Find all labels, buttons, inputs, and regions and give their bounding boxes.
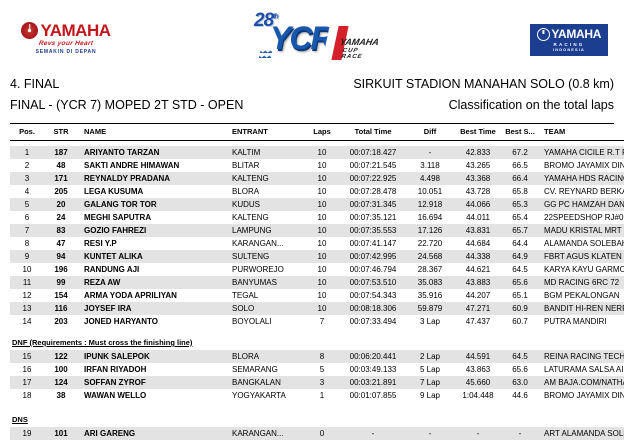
cell-total-time: 00:07:42.995 [340,250,406,263]
cell-total-time: 00:07:54.343 [340,289,406,302]
cell-name: ARMA YODA APRILIYAN [78,289,232,302]
cell-best-speed: 66.5 [502,159,538,172]
cell-team: BANDIT HI-REN NERRO SPEED [538,302,624,315]
col-header-best-speed: Best S... [502,124,538,141]
table-row[interactable]: 17124SOFFAN ZYROFBANGKALAN300:03:21.8917… [10,376,624,389]
cell-diff: 22.720 [406,237,454,250]
cell-team: MD RACING 6RC 72 [538,276,624,289]
cell-str: 116 [44,302,78,315]
cell-best-speed: 65.7 [502,224,538,237]
yamaha-tuning-fork-icon [537,28,550,41]
table-row[interactable]: 12154ARMA YODA APRILIYANTEGAL1000:07:54.… [10,289,624,302]
cell-best-time: 43.265 [454,159,502,172]
cell-pos: 12 [10,289,44,302]
cell-best-time: 44.066 [454,198,502,211]
cell-team: YAMAHA HDS RACING TEAM / 22 SPEEDSHOP RJ… [538,172,624,185]
cell-str: 100 [44,363,78,376]
cell-best-speed: 64.5 [502,263,538,276]
cell-best-time: 43.883 [454,276,502,289]
cell-pos: 17 [10,376,44,389]
table-row[interactable]: 10196RANDUNG AJIPURWOREJO1000:07:46.7942… [10,263,624,276]
cell-str: 20 [44,198,78,211]
cell-entrant: BOYOLALI [232,315,304,328]
results-table-body: 1187ARIYANTO TARZANKALTIM1000:07:18.427-… [10,141,624,440]
cell-diff: 17.126 [406,224,454,237]
cell-team: BGM PEKALONGAN [538,289,624,302]
cell-str: 122 [44,350,78,363]
cell-pos: 2 [10,159,44,172]
cell-name: SAKTI ANDRE HIMAWAN [78,159,232,172]
cell-diff: 3 Lap [406,315,454,328]
cell-name: RESI Y.P [78,237,232,250]
cell-diff: 9 Lap [406,389,454,402]
cell-total-time: 00:07:21.545 [340,159,406,172]
cell-name: ARIYANTO TARZAN [78,146,232,159]
cell-team: ALAMANDA SOLEBAH RT [538,237,624,250]
cell-laps: 10 [304,211,340,224]
cell-team: BROMO JAYAMIX DINAR CAHYA FDR NHK RCB1 K… [538,159,624,172]
cell-diff: 10.051 [406,185,454,198]
cell-name: ARI GARENG [78,427,232,440]
cell-team: 22SPEEDSHOP RJ#09 R.T INDONESIA [538,211,624,224]
cell-best-time: 44.338 [454,250,502,263]
cell-team: BROMO JAYAMIX DINAR CAHYA FDR NHK RCB1 K… [538,389,624,402]
section-label-row: DNF (Requirements : Must cross the finis… [10,335,624,350]
cell-team: YAMAHA CICILE R.T RRS POWERED RACETECH [538,146,624,159]
table-row[interactable]: 1199REZA AWBANYUMAS1000:07:53.51035.0834… [10,276,624,289]
cell-entrant: PURWOREJO [232,263,304,276]
cell-name: JONED HARYANTO [78,315,232,328]
cell-entrant: BLORA [232,185,304,198]
cell-best-time: 1:04.448 [454,389,502,402]
cell-best-time: 44.591 [454,350,502,363]
table-row[interactable]: 13116JOYSEF IRASOLO1000:08:18.30659.8794… [10,302,624,315]
cell-diff: 2 Lap [406,350,454,363]
cell-name: REZA AW [78,276,232,289]
cell-entrant: BLORA [232,350,304,363]
cell-best-speed: 67.2 [502,146,538,159]
cell-best-time: 47.437 [454,315,502,328]
cell-best-speed: 64.9 [502,250,538,263]
table-row[interactable]: 15122IPUNK SALEPOKBLORA800:06:20.4412 La… [10,350,624,363]
cell-diff: 16.694 [406,211,454,224]
cell-pos: 19 [10,427,44,440]
table-row[interactable]: 1838WAWAN WELLOYOGYAKARTA100:01:07.8559 … [10,389,624,402]
cell-name: IRFAN RIYADOH [78,363,232,376]
cell-name: GOZIO FAHREZI [78,224,232,237]
cell-best-time: 44.207 [454,289,502,302]
cell-best-time: 43.728 [454,185,502,198]
cell-team: GG PC HAMZAH DANIOEM ITG KRD 100 GROUP [538,198,624,211]
cell-total-time: 00:07:35.121 [340,211,406,224]
cell-laps: 10 [304,276,340,289]
cell-pos: 5 [10,198,44,211]
table-row[interactable]: 847RESI Y.PKARANGAN...1000:07:41.14722.7… [10,237,624,250]
table-row[interactable]: 994KUNTET ALIKASULTENG1000:07:42.99524.5… [10,250,624,263]
cell-laps: 7 [304,315,340,328]
cell-pos: 7 [10,224,44,237]
dnf-section-label: DNF (Requirements : Must cross the finis… [10,335,624,350]
yamaha-right-racing-label: RACING [554,42,585,47]
cell-best-time: - [454,427,502,440]
logo-header-strip: YAMAHA Revs your Heart SEMAKIN DI DEPAN … [0,0,624,75]
cell-str: 38 [44,389,78,402]
cell-total-time: 00:07:22.925 [340,172,406,185]
cell-best-time: 44.011 [454,211,502,224]
cell-best-time: 44.621 [454,263,502,276]
cell-pos: 3 [10,172,44,185]
cell-str: 83 [44,224,78,237]
col-header-entrant: ENTRANT [232,124,304,141]
title-row-primary: 4. FINAL SIRKUIT STADION MANAHAN SOLO (0… [10,75,614,93]
results-table-head: Pos. STR NAME ENTRANT Laps Total Time Di… [10,124,624,141]
cell-team: CV. REYNARD BERKAH RAYA BOBOBOY MAHENDRA… [538,185,624,198]
cell-best-speed: 65.3 [502,198,538,211]
col-header-diff: Diff [406,124,454,141]
col-header-best-time: Best Time [454,124,502,141]
circuit-name: SIRKUIT STADION MANAHAN SOLO (0.8 km) [353,75,614,93]
yamaha-left-wordmark: YAMAHA [40,22,110,39]
ycr-event-logo: 28th YCR YAMAHA CUP RACE [252,8,380,68]
cell-laps: 3 [304,376,340,389]
cell-str: 48 [44,159,78,172]
cell-pos: 15 [10,350,44,363]
cell-entrant: BANYUMAS [232,276,304,289]
cell-best-speed: 65.1 [502,289,538,302]
table-row[interactable]: 520GALANG TOR TORKUDUS1000:07:31.34512.9… [10,198,624,211]
cell-str: 101 [44,427,78,440]
cell-diff: 3.118 [406,159,454,172]
cell-name: JOYSEF IRA [78,302,232,315]
table-spacer-row [10,328,624,335]
cell-str: 205 [44,185,78,198]
cell-diff: 24.568 [406,250,454,263]
cell-str: 196 [44,263,78,276]
cell-diff: - [406,146,454,159]
cell-team: LATURAMA SALSA AIR MINUM [538,363,624,376]
cell-diff: 28.367 [406,263,454,276]
cell-best-speed: 65.4 [502,211,538,224]
cell-name: LEGA KUSUMA [78,185,232,198]
cell-total-time: 00:07:46.794 [340,263,406,276]
cell-team: REINA RACING TECH BJ BERKAH CEPU [538,350,624,363]
cell-best-speed: 64.5 [502,350,538,363]
cell-entrant: KUDUS [232,198,304,211]
cell-laps: 10 [304,185,340,198]
cell-best-time: 43.831 [454,224,502,237]
yamaha-left-tagline: SEMAKIN DI DEPAN [16,49,116,55]
cell-total-time: 00:07:28.478 [340,185,406,198]
cell-pos: 14 [10,315,44,328]
cell-best-speed: 65.6 [502,276,538,289]
table-row[interactable]: 16100IRFAN RIYADOHSEMARANG500:03:49.1335… [10,363,624,376]
cell-best-speed: 65.8 [502,185,538,198]
cell-pos: 4 [10,185,44,198]
cell-total-time: 00:07:53.510 [340,276,406,289]
cell-name: REYNALDY PRADANA [78,172,232,185]
cell-laps: 10 [304,172,340,185]
classification-note: Classification on the total laps [449,96,614,114]
table-spacer-row [10,402,624,412]
cell-pos: 18 [10,389,44,402]
results-table: Pos. STR NAME ENTRANT Laps Total Time Di… [10,124,624,440]
cell-diff: 35.083 [406,276,454,289]
cell-entrant: KALTENG [232,211,304,224]
table-spacer-cell [10,402,624,412]
cell-best-time: 45.660 [454,376,502,389]
cell-best-time: 47.271 [454,302,502,315]
cell-pos: 6 [10,211,44,224]
cell-laps: 1 [304,389,340,402]
ycr-subtitle: YAMAHA [339,38,380,47]
title-row-secondary: FINAL - (YCR 7) MOPED 2T STD - OPEN Clas… [10,96,614,114]
cell-str: 171 [44,172,78,185]
table-spacer-cell [10,328,624,335]
cell-entrant: SOLO [232,302,304,315]
cell-best-time: 43.863 [454,363,502,376]
cell-total-time: 00:07:41.147 [340,237,406,250]
cell-str: 47 [44,237,78,250]
table-row[interactable]: 3171REYNALDY PRADANAKALTENG1000:07:22.92… [10,172,624,185]
cell-best-speed: 60.9 [502,302,538,315]
cell-entrant: YOGYAKARTA [232,389,304,402]
cell-best-speed: 44.6 [502,389,538,402]
cell-entrant: KALTIM [232,146,304,159]
table-row[interactable]: 19101ARI GARENGKARANGAN...0----ART ALAMA… [10,427,624,440]
cell-name: RANDUNG AJI [78,263,232,276]
ycr-wordmark: YCR [270,22,332,54]
cell-laps: 0 [304,427,340,440]
cell-name: MEGHI SAPUTRA [78,211,232,224]
table-row[interactable]: 1187ARIYANTO TARZANKALTIM1000:07:18.427-… [10,146,624,159]
cell-total-time: 00:07:18.427 [340,146,406,159]
cell-diff: 12.918 [406,198,454,211]
table-row[interactable]: 4205LEGA KUSUMABLORA1000:07:28.47810.051… [10,185,624,198]
cell-diff: - [406,427,454,440]
cell-str: 94 [44,250,78,263]
yamaha-racing-right-logo: YAMAHA RACING INDONESIA [530,24,608,56]
cell-total-time: 00:07:33.494 [340,315,406,328]
cell-best-time: 42.833 [454,146,502,159]
cell-pos: 9 [10,250,44,263]
cell-diff: 4.498 [406,172,454,185]
cell-total-time: 00:06:20.441 [340,350,406,363]
cell-pos: 13 [10,302,44,315]
cell-laps: 10 [304,302,340,315]
cell-team: FBRT AGUS KLATEN [538,250,624,263]
cell-team: KARYA KAYU GARMOS [538,263,624,276]
cell-diff: 5 Lap [406,363,454,376]
cell-laps: 10 [304,289,340,302]
cell-total-time: 00:01:07.855 [340,389,406,402]
cell-entrant: SULTENG [232,250,304,263]
cell-entrant: BLITAR [232,159,304,172]
cell-diff: 59.879 [406,302,454,315]
cell-name: IPUNK SALEPOK [78,350,232,363]
col-header-str: STR [44,124,78,141]
cell-str: 203 [44,315,78,328]
table-row[interactable]: 14203JONED HARYANTOBOYOLALI700:07:33.494… [10,315,624,328]
cell-best-speed: 60.7 [502,315,538,328]
cell-best-time: 43.368 [454,172,502,185]
cell-team: MADU KRISTAL MRT YMR [538,224,624,237]
cell-entrant: LAMPUNG [232,224,304,237]
table-row[interactable]: 248SAKTI ANDRE HIMAWANBLITAR1000:07:21.5… [10,159,624,172]
cell-pos: 10 [10,263,44,276]
cell-pos: 8 [10,237,44,250]
cell-laps: 10 [304,237,340,250]
cell-team: ART ALAMANDA SOLEBAH RT [538,427,624,440]
ycr-subtitle-2: CUP RACE [341,48,382,60]
cell-team: AM BAJA.COM/NATHANIA 2YROF47 DMC FDR HO2… [538,376,624,389]
yamaha-right-country-label: INDONESIA [553,48,585,52]
cell-name: KUNTET ALIKA [78,250,232,263]
cell-best-speed: 63.0 [502,376,538,389]
cell-entrant: TEGAL [232,289,304,302]
cell-entrant: KALTENG [232,172,304,185]
cell-total-time: 00:03:21.891 [340,376,406,389]
page-title-block: 4. FINAL SIRKUIT STADION MANAHAN SOLO (0… [0,75,624,114]
col-header-team: TEAM [538,124,624,141]
cell-diff: 7 Lap [406,376,454,389]
cell-name: SOFFAN ZYROF [78,376,232,389]
cell-str: 124 [44,376,78,389]
cell-best-speed: - [502,427,538,440]
cell-team: PUTRA MANDIRI [538,315,624,328]
cell-name: WAWAN WELLO [78,389,232,402]
col-header-total-time: Total Time [340,124,406,141]
yamaha-tuning-fork-icon [21,22,38,39]
cell-laps: 10 [304,250,340,263]
cell-pos: 1 [10,146,44,159]
yamaha-left-logo: YAMAHA Revs your Heart SEMAKIN DI DEPAN [16,22,116,62]
col-header-name: NAME [78,124,232,141]
cell-laps: 10 [304,159,340,172]
cell-laps: 10 [304,198,340,211]
cell-pos: 16 [10,363,44,376]
cell-best-speed: 66.4 [502,172,538,185]
cell-str: 187 [44,146,78,159]
cell-entrant: BANGKALAN [232,376,304,389]
cell-total-time: 00:07:35.553 [340,224,406,237]
cell-name: GALANG TOR TOR [78,198,232,211]
cell-str: 24 [44,211,78,224]
cell-str: 99 [44,276,78,289]
cell-entrant: KARANGAN... [232,427,304,440]
cell-total-time: 00:03:49.133 [340,363,406,376]
cell-laps: 10 [304,263,340,276]
cell-total-time: - [340,427,406,440]
cell-laps: 10 [304,146,340,159]
col-header-laps: Laps [304,124,340,141]
cell-str: 154 [44,289,78,302]
cell-diff: 35.916 [406,289,454,302]
table-row[interactable]: 783GOZIO FAHREZILAMPUNG1000:07:35.55317.… [10,224,624,237]
col-header-pos: Pos. [10,124,44,141]
yamaha-right-wordmark: YAMAHA [551,28,601,40]
cell-best-time: 44.684 [454,237,502,250]
cell-laps: 8 [304,350,340,363]
cell-entrant: KARANGAN... [232,237,304,250]
page-title: 4. FINAL [10,75,59,93]
cell-best-speed: 65.6 [502,363,538,376]
cell-entrant: SEMARANG [232,363,304,376]
table-header-row: Pos. STR NAME ENTRANT Laps Total Time Di… [10,124,624,141]
table-row[interactable]: 624MEGHI SAPUTRAKALTENG1000:07:35.12116.… [10,211,624,224]
yamaha-left-slogan: Revs your Heart [15,40,116,47]
cell-pos: 11 [10,276,44,289]
cell-laps: 5 [304,363,340,376]
cell-best-speed: 64.4 [502,237,538,250]
cell-total-time: 00:07:31.345 [340,198,406,211]
class-title: FINAL - (YCR 7) MOPED 2T STD - OPEN [10,96,243,114]
cell-total-time: 00:08:18.306 [340,302,406,315]
cell-laps: 10 [304,224,340,237]
